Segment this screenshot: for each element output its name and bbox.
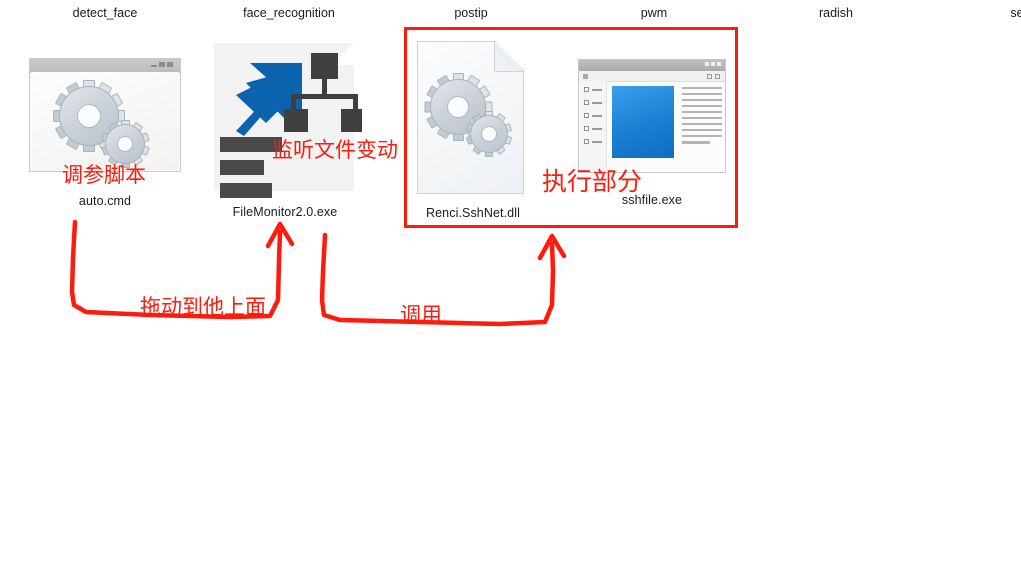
- application-window-icon: [578, 59, 726, 173]
- gear-small-icon: [105, 124, 145, 164]
- folder-icon: [261, 0, 317, 2]
- folder-label: ser: [944, 6, 1021, 20]
- arrow-drag-path: [72, 222, 280, 317]
- annotation-drag-label: 拖动到他上面: [140, 297, 266, 318]
- desktop-background: detect_face face_recognition postip pwm …: [0, 0, 1021, 574]
- list-bar-icon: [220, 183, 272, 198]
- folder-label: postip: [396, 6, 546, 20]
- arrow-call-head: [540, 236, 564, 258]
- arrow-drag-head: [268, 224, 292, 246]
- file-monitor-icon: [206, 39, 362, 191]
- folder-icon: [443, 0, 499, 2]
- folder-icon: [991, 0, 1021, 2]
- desktop-icon-label-renci-dll: Renci.SshNet.dll: [419, 206, 527, 221]
- desktop-icon-file-monitor[interactable]: FileMonitor2.0.exe: [206, 39, 372, 220]
- desktop-icon-renci-dll[interactable]: Renci.SshNet.dll: [417, 41, 525, 221]
- folder-label: face_recognition: [214, 6, 364, 20]
- gears-window-icon: [29, 58, 181, 172]
- folder-icon: [77, 0, 133, 2]
- desktop-icon-label-auto-cmd: auto.cmd: [29, 194, 181, 209]
- dll-gears-page-icon: [417, 41, 525, 195]
- folder-label: detect_face: [30, 6, 180, 20]
- list-bar-icon: [220, 137, 282, 152]
- gear-small-icon: [470, 115, 508, 153]
- desktop-icon-label-file-monitor: FileMonitor2.0.exe: [202, 205, 368, 220]
- arrow-call-path: [322, 235, 553, 324]
- list-bar-icon: [220, 160, 264, 175]
- desktop-icon-auto-cmd[interactable]: auto.cmd: [29, 58, 181, 209]
- folder-label: radish: [761, 6, 911, 20]
- desktop-icon-label-sshfile-exe: sshfile.exe: [578, 193, 726, 208]
- desktop-icon-sshfile-exe[interactable]: sshfile.exe: [578, 59, 726, 208]
- folder-icon: [626, 0, 682, 2]
- annotation-call-label: 调用: [400, 305, 442, 326]
- folder-icon: [808, 0, 864, 2]
- blue-content-panel-icon: [612, 86, 674, 158]
- folder-label: pwm: [579, 6, 729, 20]
- app-sidebar-icon: [580, 81, 607, 171]
